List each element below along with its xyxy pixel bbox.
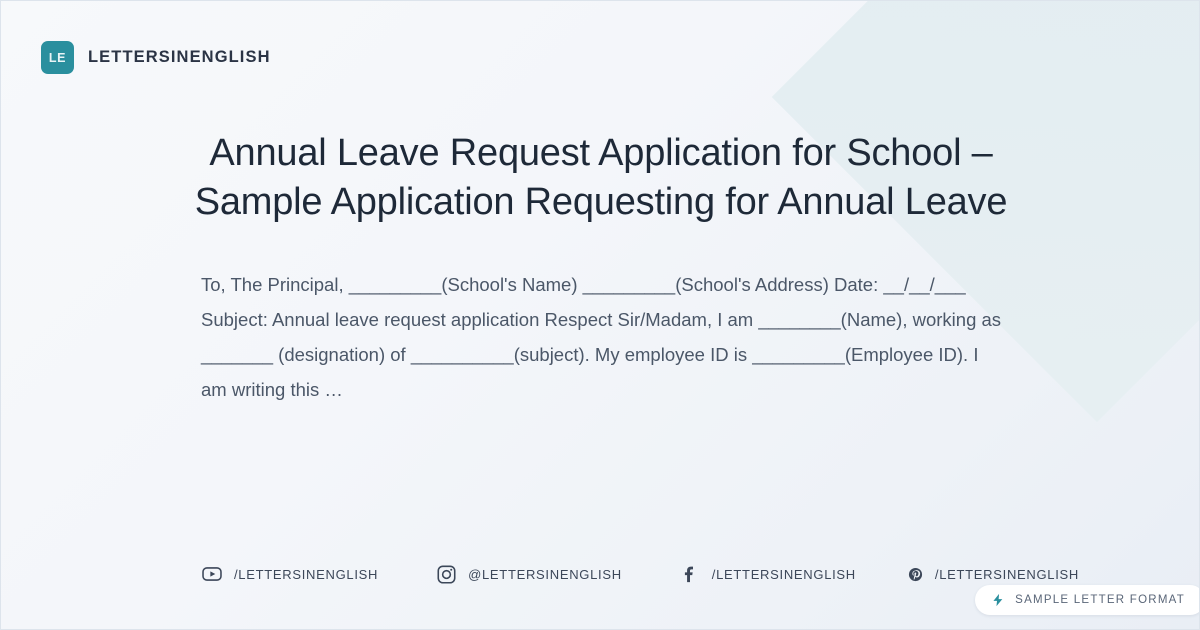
brand-header[interactable]: LE LETTERSINENGLISH (41, 41, 271, 74)
page-title: Annual Leave Request Application for Sch… (151, 129, 1051, 227)
brand-name: LETTERSINENGLISH (88, 48, 271, 67)
youtube-icon (201, 563, 223, 585)
social-label-instagram: @LETTERSINENGLISH (468, 567, 622, 582)
facebook-icon (679, 563, 701, 585)
main-content: Annual Leave Request Application for Sch… (1, 129, 1200, 407)
instagram-icon (435, 563, 457, 585)
social-share-card: LE LETTERSINENGLISH Annual Leave Request… (0, 0, 1200, 630)
social-label-pinterest: /LETTERSINENGLISH (935, 567, 1079, 582)
article-excerpt: To, The Principal, _________(School's Na… (198, 267, 1004, 407)
social-label-youtube: /LETTERSINENGLISH (234, 567, 378, 582)
pinterest-icon (908, 566, 924, 582)
social-link-pinterest[interactable]: /LETTERSINENGLISH (908, 566, 1079, 582)
brand-logo-badge: LE (41, 41, 74, 74)
social-label-facebook: /LETTERSINENGLISH (712, 567, 856, 582)
social-link-youtube[interactable]: /LETTERSINENGLISH (201, 563, 378, 585)
lightning-bolt-icon (991, 592, 1005, 608)
social-link-facebook[interactable]: /LETTERSINENGLISH (679, 563, 856, 585)
social-link-instagram[interactable]: @LETTERSINENGLISH (435, 563, 622, 585)
format-badge-label: SAMPLE LETTER FORMAT (1015, 594, 1185, 606)
social-links-bar: /LETTERSINENGLISH @LETTERSINENGLISH /LET… (201, 563, 1079, 585)
sample-letter-format-badge[interactable]: SAMPLE LETTER FORMAT (975, 585, 1200, 615)
